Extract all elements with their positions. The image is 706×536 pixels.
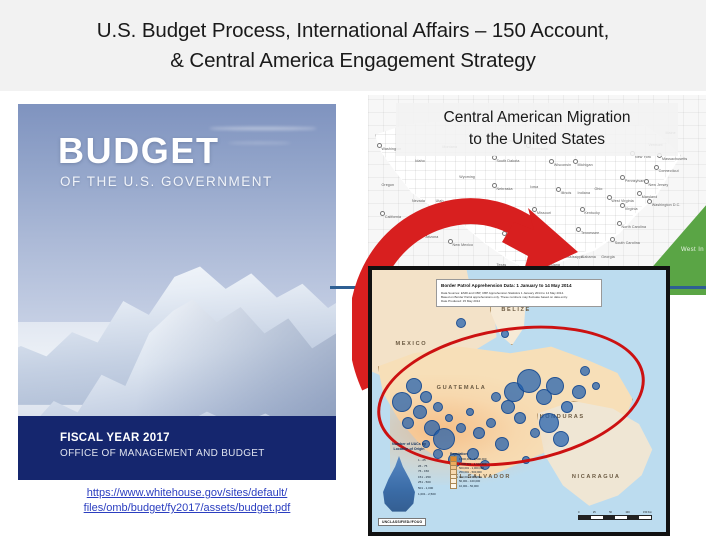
bp-map-header-title: Border Patrol Apprehension Data: 1 Janua… (441, 283, 597, 289)
city-marker-icon (539, 259, 544, 264)
state-label: West Virginia (611, 199, 633, 203)
population-range-label: 1,500,001 - 2,500,000 (459, 457, 486, 461)
uac-legend-class: 501 - 1,000 (418, 486, 436, 492)
bp-map-header-box: Border Patrol Apprehension Data: 1 Janua… (436, 279, 602, 307)
state-label: South Dakota (496, 159, 519, 163)
state-label: South Carolina (615, 241, 640, 245)
state-label: New Jersey (649, 183, 669, 187)
state-label: Mississippi (564, 255, 582, 259)
city-marker-icon (620, 175, 625, 180)
uac-legend-classes: 1 - 2526 - 7576 - 150151 - 250251 - 5005… (418, 458, 436, 497)
city-marker-icon (448, 239, 453, 244)
scale-tick-label: 0 (578, 511, 579, 514)
state-label: Arkansas (540, 239, 556, 243)
state-label: Virginia (625, 207, 638, 211)
url-line-2: files/omb/budget/fy2017/assets/budget.pd… (62, 501, 312, 516)
city-marker-icon (620, 203, 625, 208)
scale-tick-label: 100 (625, 511, 629, 514)
state-label: Tennessee (581, 231, 599, 235)
state-label: Alabama (581, 255, 596, 259)
city-marker-icon (377, 143, 382, 148)
cover-agency: OFFICE OF MANAGEMENT AND BUDGET (60, 448, 265, 459)
scale-tick-label: 50 (609, 511, 612, 514)
cloud-wisp-icon (209, 127, 317, 130)
population-range-label: 100,001 - 250,000 (459, 475, 482, 479)
state-label: Connecticut (659, 169, 679, 173)
population-legend: Population 1,500,001 - 2,500,0001,000,00… (450, 452, 486, 488)
city-marker-icon (461, 201, 466, 206)
url-line-1: https://www.whitehouse.gov/sites/default… (62, 486, 312, 501)
population-range-label: 10,001 - 50,000 (459, 484, 479, 488)
page-title: U.S. Budget Process, International Affai… (79, 16, 627, 76)
population-range-label: 1,000,001 - 1,500,000 (459, 462, 486, 466)
state-label: North Carolina (622, 225, 647, 229)
population-range-label: 250,001 - 500,000 (459, 470, 482, 474)
city-marker-icon (644, 179, 649, 184)
state-label: California (385, 215, 401, 219)
uac-legend: Number of UACs by Location of Origin (378, 442, 440, 451)
bp-header-note-line: Date Produced: 15 May 2014 (441, 299, 597, 303)
state-label: Kentucky (584, 211, 600, 215)
map-scale-bar: 02550100150 Km (578, 511, 652, 520)
city-marker-icon (536, 235, 541, 240)
title-line-1: U.S. Budget Process, International Affai… (97, 19, 609, 42)
state-label: Illinois (561, 191, 572, 195)
classification-banner: UNCLASSIFIED//FOUO (378, 518, 426, 526)
state-label: Missouri (537, 211, 551, 215)
source-url-link[interactable]: https://www.whitehouse.gov/sites/default… (62, 486, 312, 516)
state-label: Georgia (601, 255, 615, 259)
scale-tick-label: 25 (593, 511, 596, 514)
us-map-title-line-1: Central American Migration (398, 107, 676, 129)
cover-subtitle: OF THE U.S. GOVERNMENT (60, 174, 273, 189)
state-label: Nevada (412, 199, 425, 203)
green-region-label: West In (681, 247, 704, 253)
title-line-2: & Central America Engagement Strategy (97, 46, 609, 76)
population-legend-rows: 1,500,001 - 2,500,0001,000,001 - 1,500,0… (450, 457, 486, 488)
city-marker-icon (610, 237, 615, 242)
state-label: New Mexico (453, 243, 474, 247)
uac-legend-title-2: Location of Origin (378, 447, 440, 452)
us-map-title-line-2: to the United States (398, 129, 676, 151)
city-marker-icon (492, 183, 497, 188)
city-marker-icon (654, 165, 659, 170)
state-label: Arizona (425, 235, 438, 239)
state-label: Ohio (594, 187, 602, 191)
us-map-title: Central American Migration to the United… (396, 103, 678, 156)
cloud-wisp-icon (228, 142, 292, 144)
state-label: Indiana (578, 191, 591, 195)
population-range-label: 500,001 - 1,000,000 (459, 466, 484, 470)
country-label: NICARAGUA (572, 474, 621, 480)
state-label: Colorado (466, 205, 481, 209)
state-label: Iowa (530, 185, 538, 189)
city-marker-icon (647, 199, 652, 204)
population-legend-row: 10,001 - 50,000 (450, 483, 486, 487)
scale-tick-label: 150 Km (643, 511, 652, 514)
city-marker-icon (502, 231, 507, 236)
city-marker-icon (576, 227, 581, 232)
scale-bar-labels: 02550100150 Km (578, 511, 652, 514)
city-marker-icon (617, 221, 622, 226)
state-label: Utah (436, 199, 444, 203)
population-swatch (450, 483, 457, 489)
us-migration-map: WashingtonOregonCaliforniaNevadaIdahoMon… (368, 95, 706, 295)
city-marker-icon (556, 187, 561, 192)
state-label: Kansas (496, 211, 509, 215)
cover-title: BUDGET (58, 132, 220, 170)
state-label: Massachusetts (662, 157, 687, 161)
city-marker-icon (532, 207, 537, 212)
state-label: Washington D.C. (652, 203, 681, 207)
slide-canvas: U.S. Budget Process, International Affai… (0, 0, 706, 532)
country-label: MEXICO (396, 341, 428, 347)
border-patrol-apprehension-map: Border Patrol Apprehension Data: 1 Janua… (368, 266, 670, 536)
city-marker-icon (637, 191, 642, 196)
city-marker-icon (573, 159, 578, 164)
cover-fiscal-year: FISCAL YEAR 2017 (60, 432, 170, 444)
state-label: Nebraska (496, 187, 512, 191)
state-label: Wisconsin (554, 163, 571, 167)
city-marker-icon (580, 207, 585, 212)
city-marker-icon (607, 195, 612, 200)
slide-title-band: U.S. Budget Process, International Affai… (0, 0, 706, 91)
state-label: Oregon (382, 183, 395, 187)
bp-map-header-notes: Data Sources: ESRI and CBP, CBP Apprehen… (441, 291, 597, 304)
country-label: BELIZE (501, 307, 531, 313)
budget-cover-image: BUDGET OF THE U.S. GOVERNMENT FISCAL YEA… (18, 104, 336, 480)
scale-bar-graphic (578, 515, 652, 520)
population-range-label: 50,001 - 100,000 (459, 479, 480, 483)
state-label: Oklahoma (507, 235, 524, 239)
state-label: Michigan (578, 163, 593, 167)
uac-legend-class: 1,001 - 2,500 (418, 492, 436, 498)
state-label: Idaho (415, 159, 425, 163)
city-marker-icon (559, 251, 564, 256)
city-marker-icon (380, 211, 385, 216)
city-marker-icon (549, 159, 554, 164)
state-label: Wyoming (459, 175, 475, 179)
